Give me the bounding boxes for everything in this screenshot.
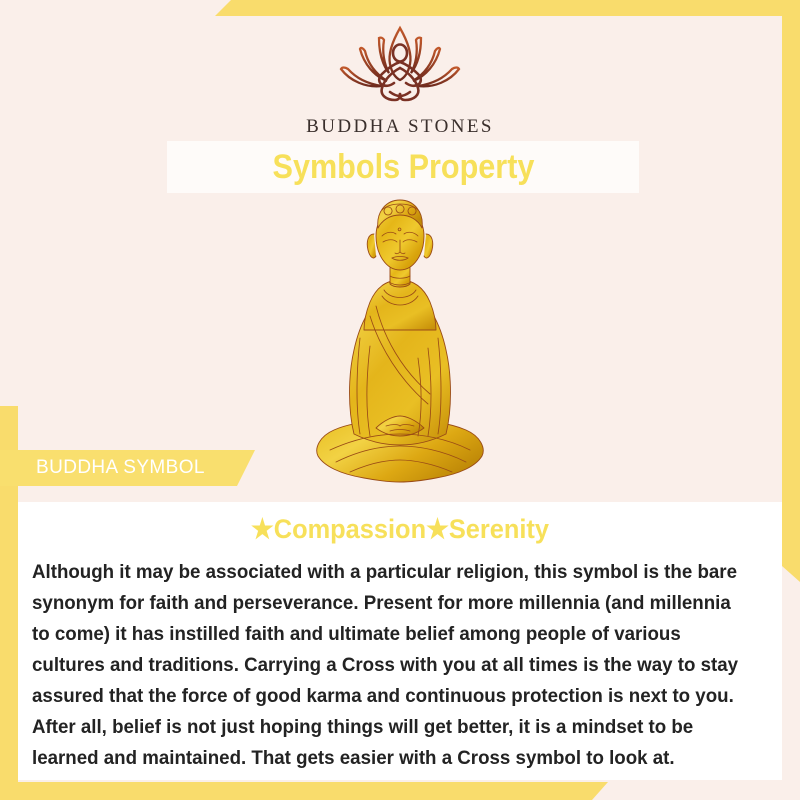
star-icon-left: ★	[251, 514, 274, 544]
page-title: Symbols Property	[272, 148, 534, 187]
decor-top-yellow-band	[215, 0, 800, 16]
page-title-band: Symbols Property	[167, 141, 639, 193]
content-body-text: Although it may be associated with a par…	[32, 557, 738, 774]
content-subtitle: ★Compassion★Serenity	[41, 514, 759, 545]
decor-bottom-yellow-band	[0, 782, 608, 800]
golden-seated-buddha-statue	[310, 198, 490, 490]
buddha-symbol-ribbon-label: BUDDHA SYMBOL	[36, 457, 205, 479]
content-card: ★Compassion★Serenity Although it may be …	[18, 502, 782, 780]
star-icon-right: ★	[426, 514, 449, 544]
brand-wordmark: BUDDHA STONES	[306, 116, 494, 138]
subtitle-word-serenity: Serenity	[449, 514, 549, 544]
promo-banner-page: BUDDHA STONES Symbols Property	[0, 0, 800, 800]
brand-logo-block: BUDDHA STONES	[0, 24, 800, 138]
buddha-symbol-ribbon: BUDDHA SYMBOL	[0, 450, 255, 486]
subtitle-word-compassion: Compassion	[274, 514, 426, 544]
lotus-meditation-figure-icon	[332, 24, 468, 110]
